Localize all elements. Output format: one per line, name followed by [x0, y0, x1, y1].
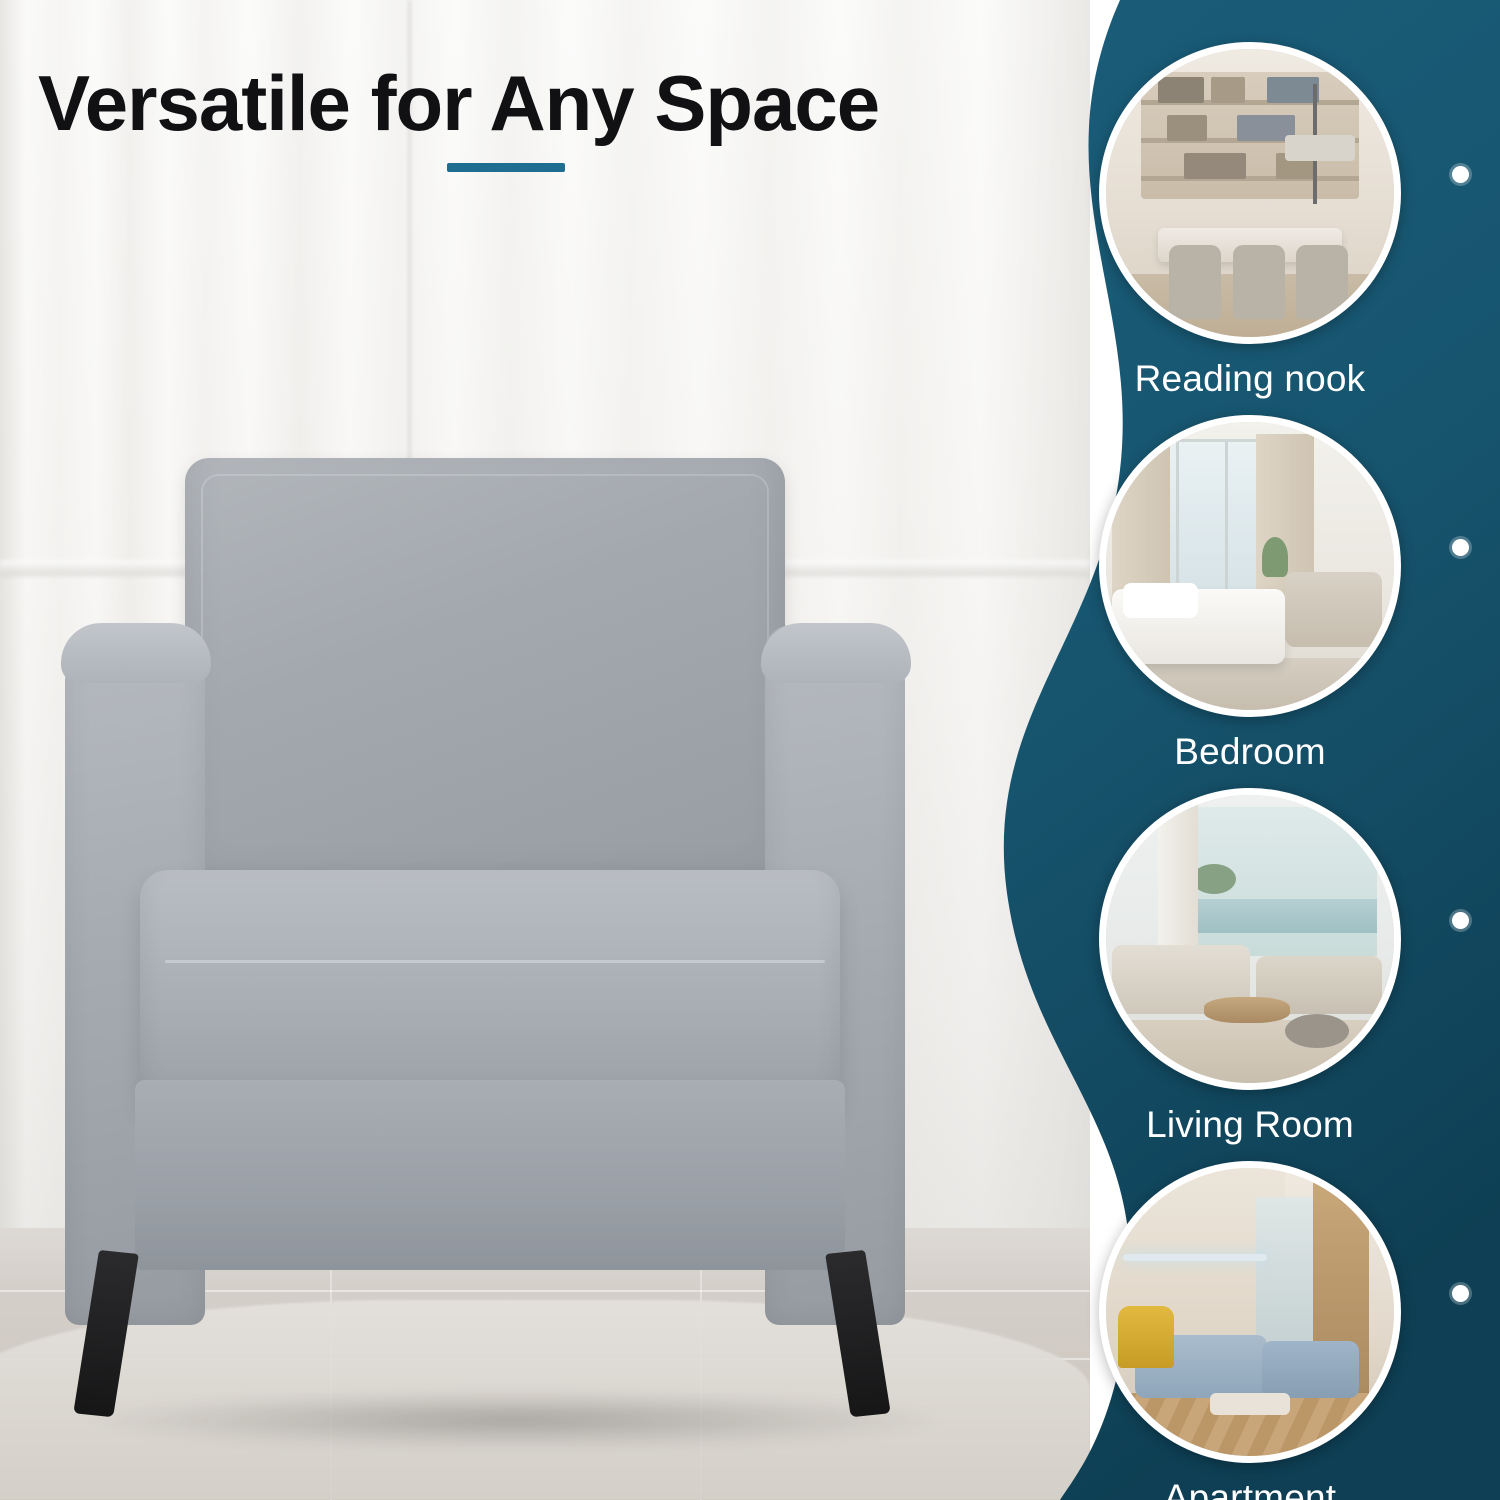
thumbnail-living-room[interactable] [1099, 788, 1401, 1090]
use-case-label-living-room: Living Room [1020, 1104, 1480, 1146]
use-case-card-reading-nook[interactable]: Reading nook [1020, 42, 1480, 400]
scene-living-room [1106, 795, 1394, 1083]
use-case-list: Reading nook [1000, 0, 1500, 1500]
scene-apartment [1106, 1168, 1394, 1456]
thumbnail-apartment[interactable] [1099, 1161, 1401, 1463]
use-case-card-living-room[interactable]: Living Room [1020, 788, 1480, 1146]
use-case-panel: Reading nook [1000, 0, 1500, 1500]
accent-armchair [55, 440, 955, 1440]
scene-bedroom [1106, 422, 1394, 710]
connector-dot [1452, 166, 1469, 183]
product-hero-photo [0, 0, 1090, 1500]
use-case-label-reading-nook: Reading nook [1020, 358, 1480, 400]
chair-armrest-right [761, 623, 911, 683]
connector-dot [1452, 1285, 1469, 1302]
thumbnail-reading-nook[interactable] [1099, 42, 1401, 344]
chair-seat-seam [165, 960, 825, 963]
chair-back-cushion [185, 458, 785, 908]
product-feature-banner: Versatile for Any Space [0, 0, 1500, 1500]
use-case-card-bedroom[interactable]: Bedroom [1020, 415, 1480, 773]
chair-base [135, 1080, 845, 1270]
use-case-card-apartment[interactable]: Apartment [1020, 1161, 1480, 1500]
chair-seat-cushion [140, 870, 840, 1110]
title-underline-accent [447, 163, 565, 172]
connector-dot [1452, 912, 1469, 929]
scene-reading-nook [1106, 49, 1394, 337]
connector-dot [1452, 539, 1469, 556]
thumbnail-bedroom[interactable] [1099, 415, 1401, 717]
page-title: Versatile for Any Space [38, 62, 1048, 145]
use-case-label-bedroom: Bedroom [1020, 731, 1480, 773]
use-case-label-apartment: Apartment [1020, 1477, 1480, 1500]
chair-floor-shadow [75, 1390, 955, 1450]
chair-armrest-left [61, 623, 211, 683]
